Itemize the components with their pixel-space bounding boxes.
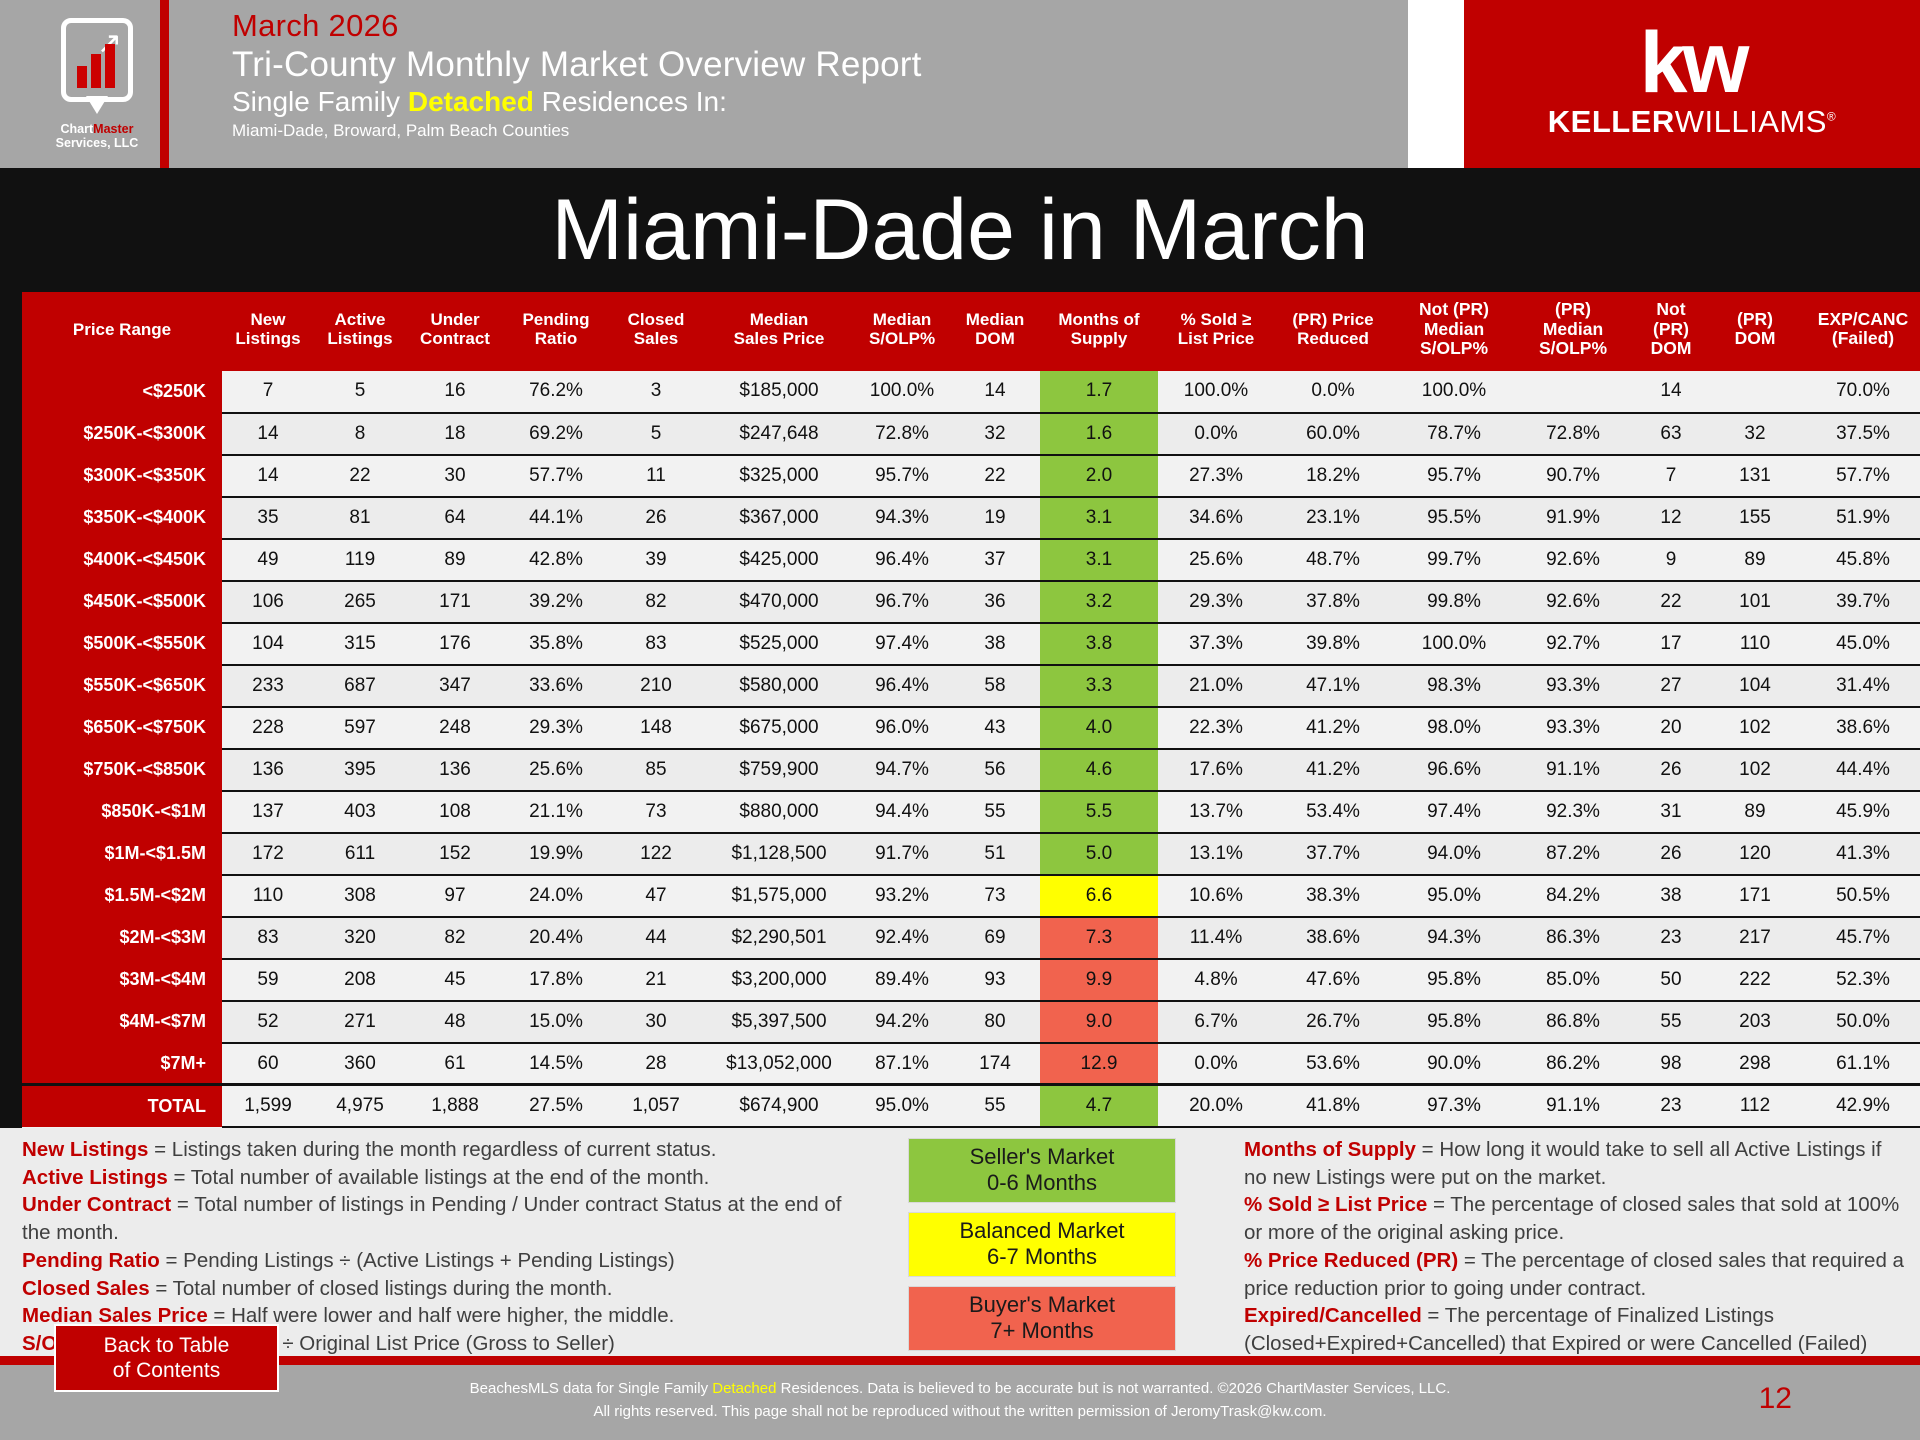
cell-closed: 39 [608,539,704,581]
cell-new: 228 [222,707,314,749]
title-banner: Miami-Dade in March [0,168,1920,292]
cell-median-solp: 92.4% [854,917,950,959]
cell-mos: 3.1 [1040,539,1158,581]
chart-badge-icon: ↗ [61,18,133,102]
cell-not-pr-solp: 100.0% [1392,623,1516,665]
disclaimer-pre: BeachesMLS data for Single Family [470,1380,713,1397]
definition-right-term-0: Months of Supply [1244,1138,1416,1161]
cell-pr-reduced: 38.3% [1274,875,1392,917]
cell-range: $850K-<$1M [22,791,222,833]
market-key-range-1: 6-7 Months [987,1244,1097,1270]
cell-active: 360 [314,1043,406,1085]
cell-not-pr-solp: 78.7% [1392,413,1516,455]
cell-active: 119 [314,539,406,581]
cell-mos: 4.6 [1040,749,1158,791]
definition-right-term-3: Expired/Cancelled [1244,1304,1422,1327]
cell-new: 7 [222,371,314,413]
table-total-row: TOTAL1,5994,9751,88827.5%1,057$674,90095… [22,1085,1920,1127]
cell-mos: 3.2 [1040,581,1158,623]
cell-range: $750K-<$850K [22,749,222,791]
report-counties: Miami-Dade, Broward, Palm Beach Counties [232,119,922,141]
cell-range: $500K-<$550K [22,623,222,665]
cell-new: 172 [222,833,314,875]
cell-pr-solp: 86.8% [1516,1001,1630,1043]
definition-left-term-2: Under Contract [22,1193,171,1216]
cell-closed: 82 [608,581,704,623]
col-header-pr-median-s-olp: (PR)MedianS/OLP% [1516,292,1630,371]
definitions-right-column: Months of Supply = How long it would tak… [1244,1136,1904,1386]
cell-pr-solp: 72.8% [1516,413,1630,455]
cell-sold-ge-list: 0.0% [1158,1043,1274,1085]
cell-exp-canc: 38.6% [1798,707,1920,749]
cell-pending: 19.9% [504,833,608,875]
cell-pr-dom: 32 [1712,413,1798,455]
cell-new: 1,599 [222,1085,314,1127]
col-header-exp-canc-failed: EXP/CANC(Failed) [1798,292,1920,371]
col-header-not-pr-median-s-olp: Not (PR)MedianS/OLP% [1392,292,1516,371]
col-header-median-sales-price: MedianSales Price [704,292,854,371]
header-text-block: March 2026 Tri-County Monthly Market Ove… [232,8,922,141]
cell-mos: 3.1 [1040,497,1158,539]
logo-chart-text: Chart [61,122,94,136]
cell-pr-dom: 131 [1712,455,1798,497]
cell-pr-dom: 101 [1712,581,1798,623]
cell-under: 48 [406,1001,504,1043]
cell-active: 611 [314,833,406,875]
cell-mos: 1.7 [1040,371,1158,413]
cell-not-pr-dom: 55 [1630,1001,1712,1043]
cell-median-solp: 94.4% [854,791,950,833]
cell-pr-solp: 87.2% [1516,833,1630,875]
cell-new: 14 [222,455,314,497]
footer-red-line [0,1356,1920,1365]
definition-left-text-4: = Total number of closed listings during… [150,1277,613,1300]
report-month: March 2026 [232,8,922,44]
cell-median-solp: 87.1% [854,1043,950,1085]
cell-pr-dom: 112 [1712,1085,1798,1127]
cell-closed: 44 [608,917,704,959]
cell-median-dom: 56 [950,749,1040,791]
cell-median-solp: 96.0% [854,707,950,749]
cell-pr-reduced: 23.1% [1274,497,1392,539]
cell-median-dom: 14 [950,371,1040,413]
cell-exp-canc: 42.9% [1798,1085,1920,1127]
cell-not-pr-solp: 97.3% [1392,1085,1516,1127]
cell-pr-solp: 92.6% [1516,539,1630,581]
cell-median-dom: 37 [950,539,1040,581]
cell-pending: 76.2% [504,371,608,413]
cell-under: 248 [406,707,504,749]
col-header-pending-ratio: PendingRatio [504,292,608,371]
cell-sold-ge-list: 6.7% [1158,1001,1274,1043]
cell-closed: 73 [608,791,704,833]
table-row: $350K-<$400K35816444.1%26$367,00094.3%19… [22,497,1920,539]
cell-new: 35 [222,497,314,539]
cell-exp-canc: 45.8% [1798,539,1920,581]
cell-mos: 5.5 [1040,791,1158,833]
cell-range: TOTAL [22,1085,222,1127]
cell-median-solp: 94.3% [854,497,950,539]
cell-pr-reduced: 41.2% [1274,749,1392,791]
definition-right-1: % Sold ≥ List Price = The percentage of … [1244,1191,1904,1247]
col-header-median-s-olp: MedianS/OLP% [854,292,950,371]
cell-not-pr-solp: 95.7% [1392,455,1516,497]
cell-not-pr-solp: 95.0% [1392,875,1516,917]
table-row: $1M-<$1.5M17261115219.9%122$1,128,50091.… [22,833,1920,875]
cell-sold-ge-list: 13.7% [1158,791,1274,833]
definition-right-2: % Price Reduced (PR) = The percentage of… [1244,1247,1904,1303]
cell-under: 1,888 [406,1085,504,1127]
cell-not-pr-dom: 31 [1630,791,1712,833]
cell-under: 45 [406,959,504,1001]
cell-not-pr-solp: 96.6% [1392,749,1516,791]
col-header-sold-list-price: % Sold ≥List Price [1158,292,1274,371]
cell-not-pr-dom: 23 [1630,917,1712,959]
cell-range: $7M+ [22,1043,222,1085]
cell-not-pr-solp: 95.8% [1392,959,1516,1001]
cell-pr-dom: 102 [1712,707,1798,749]
cell-median-dom: 58 [950,665,1040,707]
cell-median-price: $674,900 [704,1085,854,1127]
definition-left-term-3: Pending Ratio [22,1249,160,1272]
cell-median-solp: 95.0% [854,1085,950,1127]
cell-mos: 1.6 [1040,413,1158,455]
col-header-median-dom: MedianDOM [950,292,1040,371]
cell-median-price: $5,397,500 [704,1001,854,1043]
cell-median-price: $675,000 [704,707,854,749]
cell-sold-ge-list: 10.6% [1158,875,1274,917]
definition-right-term-2: % Price Reduced (PR) [1244,1249,1458,1272]
cell-median-solp: 96.7% [854,581,950,623]
market-table: Price RangeNewListingsActiveListingsUnde… [22,292,1920,1128]
cell-median-price: $1,128,500 [704,833,854,875]
cell-median-dom: 73 [950,875,1040,917]
cell-not-pr-solp: 99.7% [1392,539,1516,581]
cell-not-pr-dom: 9 [1630,539,1712,581]
disclaimer-highlight: Detached [712,1380,776,1397]
cell-active: 320 [314,917,406,959]
cell-not-pr-solp: 97.4% [1392,791,1516,833]
cell-pr-solp: 90.7% [1516,455,1630,497]
cell-not-pr-dom: 26 [1630,833,1712,875]
cell-new: 14 [222,413,314,455]
cell-range: $250K-<$300K [22,413,222,455]
cell-not-pr-solp: 100.0% [1392,371,1516,413]
page-number: 12 [1759,1382,1792,1416]
cell-pending: 39.2% [504,581,608,623]
definition-left-3: Pending Ratio = Pending Listings ÷ (Acti… [22,1247,872,1275]
cell-not-pr-solp: 99.8% [1392,581,1516,623]
cell-closed: 30 [608,1001,704,1043]
definition-left-4: Closed Sales = Total number of closed li… [22,1275,872,1303]
logo-line-2: Services, LLC [56,136,139,150]
cell-not-pr-dom: 22 [1630,581,1712,623]
cell-median-solp: 95.7% [854,455,950,497]
cell-median-dom: 80 [950,1001,1040,1043]
cell-under: 18 [406,413,504,455]
bar-chart-icon [77,44,115,88]
table-row: $1.5M-<$2M1103089724.0%47$1,575,00093.2%… [22,875,1920,917]
cell-active: 208 [314,959,406,1001]
cell-closed: 83 [608,623,704,665]
cell-sold-ge-list: 20.0% [1158,1085,1274,1127]
cell-median-solp: 91.7% [854,833,950,875]
cell-pr-dom: 155 [1712,497,1798,539]
cell-range: $550K-<$650K [22,665,222,707]
cell-closed: 21 [608,959,704,1001]
cell-pr-solp [1516,371,1630,413]
cell-under: 136 [406,749,504,791]
cell-median-solp: 93.2% [854,875,950,917]
table-row: $850K-<$1M13740310821.1%73$880,00094.4%5… [22,791,1920,833]
cell-not-pr-dom: 63 [1630,413,1712,455]
cell-exp-canc: 50.5% [1798,875,1920,917]
definition-left-2: Under Contract = Total number of listing… [22,1191,872,1247]
cell-pr-reduced: 37.7% [1274,833,1392,875]
definition-left-0: New Listings = Listings taken during the… [22,1136,872,1164]
cell-exp-canc: 52.3% [1798,959,1920,1001]
cell-pr-reduced: 53.6% [1274,1043,1392,1085]
cell-not-pr-dom: 27 [1630,665,1712,707]
cell-pr-reduced: 18.2% [1274,455,1392,497]
cell-not-pr-dom: 50 [1630,959,1712,1001]
market-table-container: Price RangeNewListingsActiveListingsUnde… [0,292,1920,1128]
kw-monogram: kw [1640,28,1745,99]
cell-pr-reduced: 48.7% [1274,539,1392,581]
cell-pr-solp: 91.1% [1516,749,1630,791]
cell-median-price: $185,000 [704,371,854,413]
cell-active: 4,975 [314,1085,406,1127]
cell-sold-ge-list: 34.6% [1158,497,1274,539]
cell-closed: 28 [608,1043,704,1085]
cell-sold-ge-list: 100.0% [1158,371,1274,413]
cell-exp-canc: 45.0% [1798,623,1920,665]
definition-left-term-1: Active Listings [22,1166,168,1189]
cell-pr-solp: 92.6% [1516,581,1630,623]
disclaimer-post: Residences. Data is believed to be accur… [776,1380,1450,1397]
cell-pr-solp: 92.3% [1516,791,1630,833]
cell-exp-canc: 61.1% [1798,1043,1920,1085]
cell-exp-canc: 37.5% [1798,413,1920,455]
cell-median-price: $1,575,000 [704,875,854,917]
cell-active: 395 [314,749,406,791]
definition-left-text-1: = Total number of available listings at … [168,1166,710,1189]
cell-under: 64 [406,497,504,539]
market-key-range-2: 7+ Months [990,1318,1093,1344]
cell-sold-ge-list: 37.3% [1158,623,1274,665]
cell-pr-dom: 89 [1712,791,1798,833]
page-title: Miami-Dade in March [551,187,1368,273]
cell-not-pr-dom: 14 [1630,371,1712,413]
cell-median-price: $525,000 [704,623,854,665]
cell-not-pr-dom: 17 [1630,623,1712,665]
cell-pr-reduced: 41.2% [1274,707,1392,749]
page-footer: Back to Table of Contents BeachesMLS dat… [0,1356,1920,1440]
cell-median-dom: 69 [950,917,1040,959]
cell-exp-canc: 50.0% [1798,1001,1920,1043]
cell-range: $2M-<$3M [22,917,222,959]
col-header-price-range: Price Range [22,292,222,371]
table-row: $3M-<$4M592084517.8%21$3,200,00089.4%939… [22,959,1920,1001]
market-key-label-2: Buyer's Market [969,1292,1115,1318]
cell-pr-reduced: 41.8% [1274,1085,1392,1127]
cell-range: $300K-<$350K [22,455,222,497]
cell-pr-dom: 89 [1712,539,1798,581]
table-row: $750K-<$850K13639513625.6%85$759,90094.7… [22,749,1920,791]
market-key-seller-s-market: Seller's Market0-6 Months [908,1138,1176,1203]
cell-mos: 9.9 [1040,959,1158,1001]
cell-sold-ge-list: 22.3% [1158,707,1274,749]
cell-pr-solp: 86.2% [1516,1043,1630,1085]
cell-pr-reduced: 39.8% [1274,623,1392,665]
cell-pr-dom: 102 [1712,749,1798,791]
cell-pr-reduced: 38.6% [1274,917,1392,959]
cell-median-price: $247,648 [704,413,854,455]
cell-sold-ge-list: 27.3% [1158,455,1274,497]
cell-median-price: $2,290,501 [704,917,854,959]
table-row: $250K-<$300K1481869.2%5$247,64872.8%321.… [22,413,1920,455]
cell-under: 82 [406,917,504,959]
report-title: Tri-County Monthly Market Overview Repor… [232,44,922,85]
definitions-section: New Listings = Listings taken during the… [0,1128,1920,1360]
cell-exp-canc: 57.7% [1798,455,1920,497]
cell-pr-dom: 217 [1712,917,1798,959]
registered-trademark-icon: ® [1827,110,1836,124]
cell-median-dom: 93 [950,959,1040,1001]
cell-range: $350K-<$400K [22,497,222,539]
cell-range: $1M-<$1.5M [22,833,222,875]
col-header-months-of-supply: Months ofSupply [1040,292,1158,371]
cell-mos: 9.0 [1040,1001,1158,1043]
cell-median-dom: 38 [950,623,1040,665]
cell-range: $1.5M-<$2M [22,875,222,917]
cell-median-dom: 43 [950,707,1040,749]
cell-closed: 148 [608,707,704,749]
cell-not-pr-dom: 38 [1630,875,1712,917]
cell-not-pr-dom: 98 [1630,1043,1712,1085]
table-row: $4M-<$7M522714815.0%30$5,397,50094.2%809… [22,1001,1920,1043]
cell-pr-dom: 110 [1712,623,1798,665]
cell-pr-dom: 203 [1712,1001,1798,1043]
cell-pr-reduced: 37.8% [1274,581,1392,623]
cell-mos: 7.3 [1040,917,1158,959]
kw-wordmark: KELLERWILLIAMS® [1548,104,1837,140]
cell-mos: 12.9 [1040,1043,1158,1085]
definition-left-text-3: = Pending Listings ÷ (Active Listings + … [160,1249,675,1272]
cell-pr-solp: 93.3% [1516,707,1630,749]
cell-pr-dom [1712,371,1798,413]
cell-new: 136 [222,749,314,791]
cell-mos: 2.0 [1040,455,1158,497]
cell-pr-solp: 92.7% [1516,623,1630,665]
cell-sold-ge-list: 25.6% [1158,539,1274,581]
cell-exp-canc: 45.7% [1798,917,1920,959]
cell-not-pr-solp: 98.3% [1392,665,1516,707]
cell-pr-solp: 84.2% [1516,875,1630,917]
market-key-balanced-market: Balanced Market6-7 Months [908,1212,1176,1277]
table-row: $450K-<$500K10626517139.2%82$470,00096.7… [22,581,1920,623]
cell-not-pr-solp: 94.3% [1392,917,1516,959]
cell-active: 315 [314,623,406,665]
cell-pr-reduced: 47.1% [1274,665,1392,707]
cell-pending: 24.0% [504,875,608,917]
cell-new: 137 [222,791,314,833]
cell-new: 59 [222,959,314,1001]
table-row: <$250K751676.2%3$185,000100.0%141.7100.0… [22,371,1920,413]
table-row: $500K-<$550K10431517635.8%83$525,00097.4… [22,623,1920,665]
table-row: $2M-<$3M833208220.4%44$2,290,50192.4%697… [22,917,1920,959]
col-header-under-contract: UnderContract [406,292,504,371]
cell-not-pr-solp: 95.5% [1392,497,1516,539]
cell-pending: 69.2% [504,413,608,455]
cell-pending: 17.8% [504,959,608,1001]
cell-median-solp: 96.4% [854,539,950,581]
cell-not-pr-solp: 94.0% [1392,833,1516,875]
cell-sold-ge-list: 4.8% [1158,959,1274,1001]
cell-pr-dom: 120 [1712,833,1798,875]
cell-pending: 44.1% [504,497,608,539]
cell-active: 687 [314,665,406,707]
col-header-not-pr-dom: Not(PR)DOM [1630,292,1712,371]
cell-not-pr-dom: 7 [1630,455,1712,497]
toc-button-line1: Back to Table [104,1333,230,1358]
footer-disclaimer: BeachesMLS data for Single Family Detach… [0,1378,1920,1423]
cell-range: $450K-<$500K [22,581,222,623]
cell-closed: 1,057 [608,1085,704,1127]
cell-pending: 14.5% [504,1043,608,1085]
cell-mos: 4.0 [1040,707,1158,749]
cell-pr-reduced: 47.6% [1274,959,1392,1001]
cell-under: 16 [406,371,504,413]
cell-pending: 29.3% [504,707,608,749]
cell-median-solp: 97.4% [854,623,950,665]
cell-closed: 85 [608,749,704,791]
cell-active: 265 [314,581,406,623]
cell-pr-solp: 85.0% [1516,959,1630,1001]
cell-pending: 15.0% [504,1001,608,1043]
cell-active: 81 [314,497,406,539]
header-red-divider [160,0,169,168]
col-header-closed-sales: ClosedSales [608,292,704,371]
cell-pr-dom: 104 [1712,665,1798,707]
cell-not-pr-dom: 26 [1630,749,1712,791]
cell-active: 597 [314,707,406,749]
report-subtitle: Single Family Detached Residences In: [232,85,922,119]
cell-pending: 20.4% [504,917,608,959]
cell-median-price: $880,000 [704,791,854,833]
cell-sold-ge-list: 21.0% [1158,665,1274,707]
cell-new: 104 [222,623,314,665]
cell-closed: 122 [608,833,704,875]
cell-new: 83 [222,917,314,959]
disclaimer-line-1: BeachesMLS data for Single Family Detach… [0,1378,1920,1401]
cell-pending: 33.6% [504,665,608,707]
subtitle-post: Residences In: [534,86,727,117]
cell-mos: 3.8 [1040,623,1158,665]
cell-closed: 5 [608,413,704,455]
cell-median-solp: 96.4% [854,665,950,707]
market-key-buyer-s-market: Buyer's Market7+ Months [908,1286,1176,1351]
market-key-label-0: Seller's Market [970,1144,1115,1170]
cell-median-price: $367,000 [704,497,854,539]
cell-median-dom: 55 [950,1085,1040,1127]
cell-pending: 57.7% [504,455,608,497]
cell-under: 347 [406,665,504,707]
definition-left-term-0: New Listings [22,1138,148,1161]
subtitle-pre: Single Family [232,86,408,117]
cell-exp-canc: 31.4% [1798,665,1920,707]
cell-active: 271 [314,1001,406,1043]
